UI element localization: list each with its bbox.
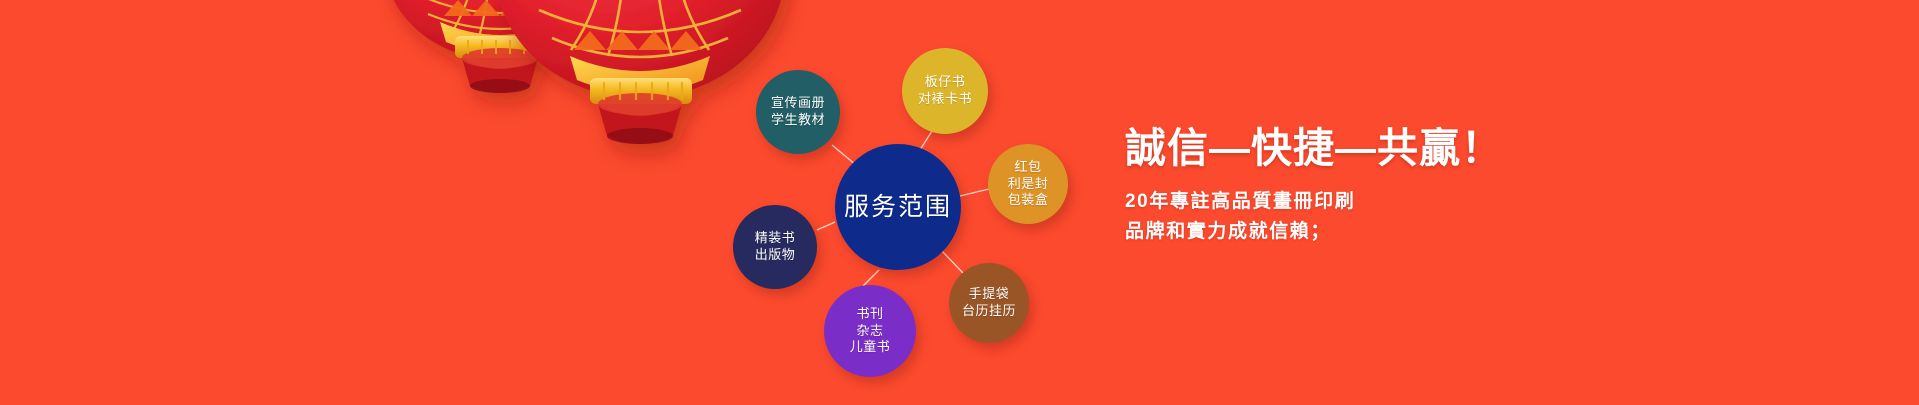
node-orange-line-3: 包装盒 (1008, 192, 1049, 209)
promo-banner: 服务范围 宣传画册 学生教材 板仔书 对裱卡书 红包 利是封 包装盒 精装书 出… (0, 0, 1919, 405)
connector-to-yellow (920, 131, 932, 150)
node-purple-line-2: 杂志 (856, 323, 883, 340)
copy-subline-2: 品牌和實力成就信賴； (1125, 217, 1745, 246)
diagram-center-node[interactable]: 服务范围 (835, 144, 961, 270)
connector-to-navy (817, 222, 835, 230)
connector-to-brown (941, 250, 963, 273)
copy-subline-1: 20年專註高品質畫冊印刷 (1125, 187, 1745, 216)
marketing-copy: 誠信—快捷—共贏！ 20年專註高品質畫冊印刷 品牌和實力成就信賴； (1125, 126, 1745, 246)
node-teal-line-1: 宣传画册 (771, 95, 825, 112)
connector-to-orange (960, 189, 989, 196)
node-navy-line-1: 精装书 (755, 230, 796, 247)
node-yellow-line-2: 对裱卡书 (918, 91, 972, 108)
diagram-node-purple[interactable]: 书刊 杂志 儿童书 (824, 285, 916, 377)
node-purple-line-1: 书刊 (856, 306, 883, 323)
center-node-label: 服务范围 (844, 191, 952, 223)
diagram-node-yellow[interactable]: 板仔书 对裱卡书 (902, 48, 988, 134)
diagram-node-orange[interactable]: 红包 利是封 包装盒 (988, 144, 1068, 224)
copy-headline: 誠信—快捷—共贏！ (1125, 126, 1745, 171)
node-purple-line-3: 儿童书 (850, 339, 891, 356)
node-yellow-line-1: 板仔书 (925, 74, 966, 91)
node-orange-line-2: 利是封 (1008, 176, 1049, 193)
node-brown-line-1: 手提袋 (969, 286, 1010, 303)
node-orange-line-1: 红包 (1014, 159, 1041, 176)
diagram-node-teal[interactable]: 宣传画册 学生教材 (756, 70, 840, 154)
diagram-node-navy[interactable]: 精装书 出版物 (733, 205, 817, 289)
connector-to-purple (863, 270, 879, 286)
diagram-node-brown[interactable]: 手提袋 台历挂历 (949, 263, 1029, 343)
node-teal-line-2: 学生教材 (771, 112, 825, 129)
node-brown-line-2: 台历挂历 (962, 303, 1016, 320)
node-navy-line-2: 出版物 (755, 247, 796, 264)
